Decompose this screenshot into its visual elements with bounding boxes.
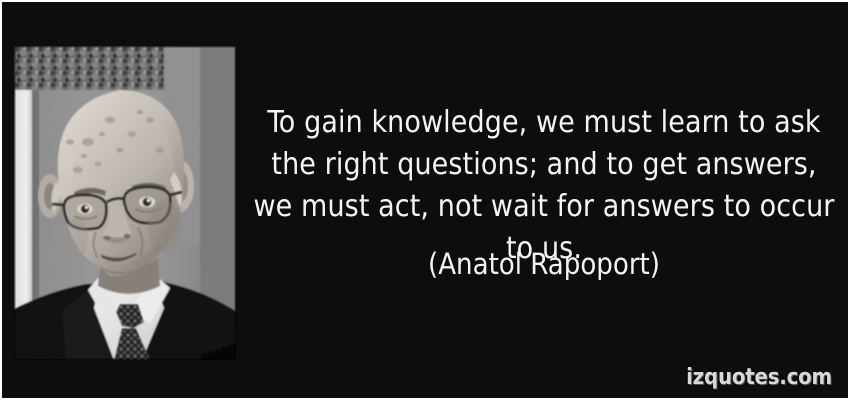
quote-text: To gain knowledge, we must learn to ask … [248, 102, 840, 270]
portrait-photo [14, 46, 236, 360]
quote-card: To gain knowledge, we must learn to ask … [0, 0, 850, 400]
quote-author: (Anatol Rapoport) [248, 247, 840, 281]
portrait-photo-image [14, 46, 236, 360]
quote-block: To gain knowledge, we must learn to ask … [248, 102, 840, 270]
site-watermark: izquotes.com [686, 365, 832, 390]
attribution-block: (Anatol Rapoport) [248, 247, 840, 281]
